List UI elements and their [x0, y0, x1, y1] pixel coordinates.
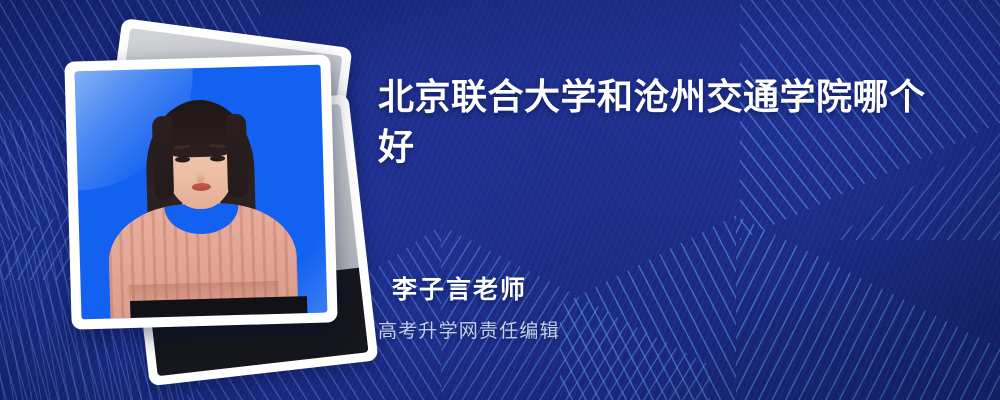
- banner-image: 北京联合大学和沧州交通学院哪个好 李子言老师 高考升学网责任编辑: [0, 0, 1000, 400]
- photo-bottom-shadow-strip: [130, 296, 308, 318]
- author-block: 李子言老师 高考升学网责任编辑: [378, 270, 798, 343]
- banner-text-column: 北京联合大学和沧州交通学院哪个好 李子言老师 高考升学网责任编辑: [378, 72, 958, 172]
- photo-card-stack: [46, 28, 346, 368]
- portrait-nose: [196, 171, 204, 183]
- portrait-figure: [75, 65, 328, 320]
- author-role: 高考升学网责任编辑: [378, 316, 798, 343]
- photo-card-front: [64, 54, 337, 329]
- author-name: 李子言老师: [392, 270, 798, 306]
- page-title: 北京联合大学和沧州交通学院哪个好: [378, 72, 938, 172]
- author-id-photo: [75, 65, 328, 320]
- portrait-hair-front: [155, 100, 243, 158]
